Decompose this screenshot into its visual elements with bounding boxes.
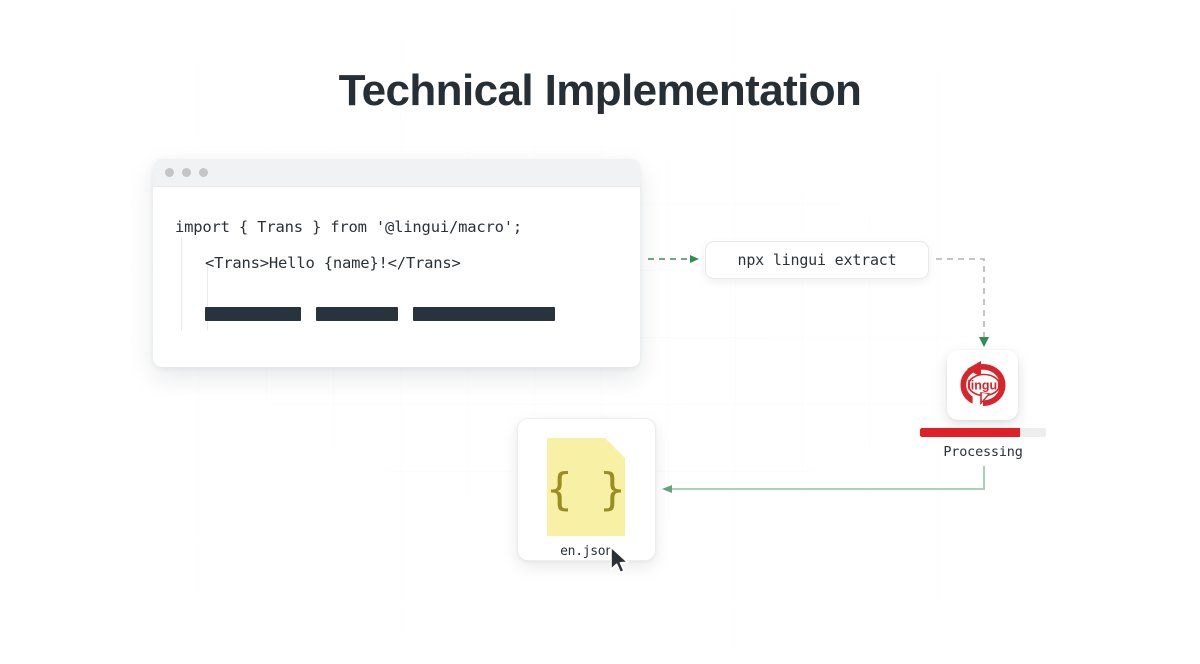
svg-text:lingui: lingui	[967, 379, 1000, 393]
code-line: import { Trans } from '@lingui/macro';	[175, 209, 620, 245]
arrow-command-to-processing	[936, 259, 989, 347]
redacted-block	[205, 307, 301, 321]
lingui-logo-card: lingui	[947, 350, 1018, 420]
window-dot-close-icon[interactable]	[165, 168, 174, 177]
mouse-pointer-icon	[609, 546, 631, 576]
window-dot-minimize-icon[interactable]	[182, 168, 191, 177]
slide-canvas: Technical Implementation import { Trans	[0, 0, 1200, 664]
arrow-processing-to-file	[662, 466, 984, 493]
output-file-card[interactable]: { } en.json	[517, 418, 656, 561]
window-dot-maximize-icon[interactable]	[199, 168, 208, 177]
arrow-code-to-command	[648, 255, 699, 263]
command-text: npx lingui extract	[738, 251, 897, 269]
code-window: import { Trans } from '@lingui/macro'; <…	[153, 159, 640, 367]
svg-text:{ }: { }	[547, 464, 625, 515]
redacted-block	[316, 307, 398, 321]
page-title: Technical Implementation	[0, 66, 1200, 117]
window-titlebar	[153, 159, 640, 187]
code-editor-body: import { Trans } from '@lingui/macro'; <…	[153, 187, 640, 291]
redacted-code-row	[205, 307, 555, 321]
lingui-logo-icon: lingui	[957, 360, 1009, 410]
processing-progress-bar	[920, 428, 1046, 437]
json-file-icon: { }	[547, 438, 625, 536]
code-line: <Trans>Hello {name}!</Trans>	[175, 245, 620, 281]
output-file-name: en.json	[518, 544, 655, 559]
processing-progress-fill	[920, 428, 1020, 437]
command-pill[interactable]: npx lingui extract	[705, 241, 929, 279]
processing-status-label: Processing	[900, 444, 1066, 460]
redacted-block	[413, 307, 555, 321]
